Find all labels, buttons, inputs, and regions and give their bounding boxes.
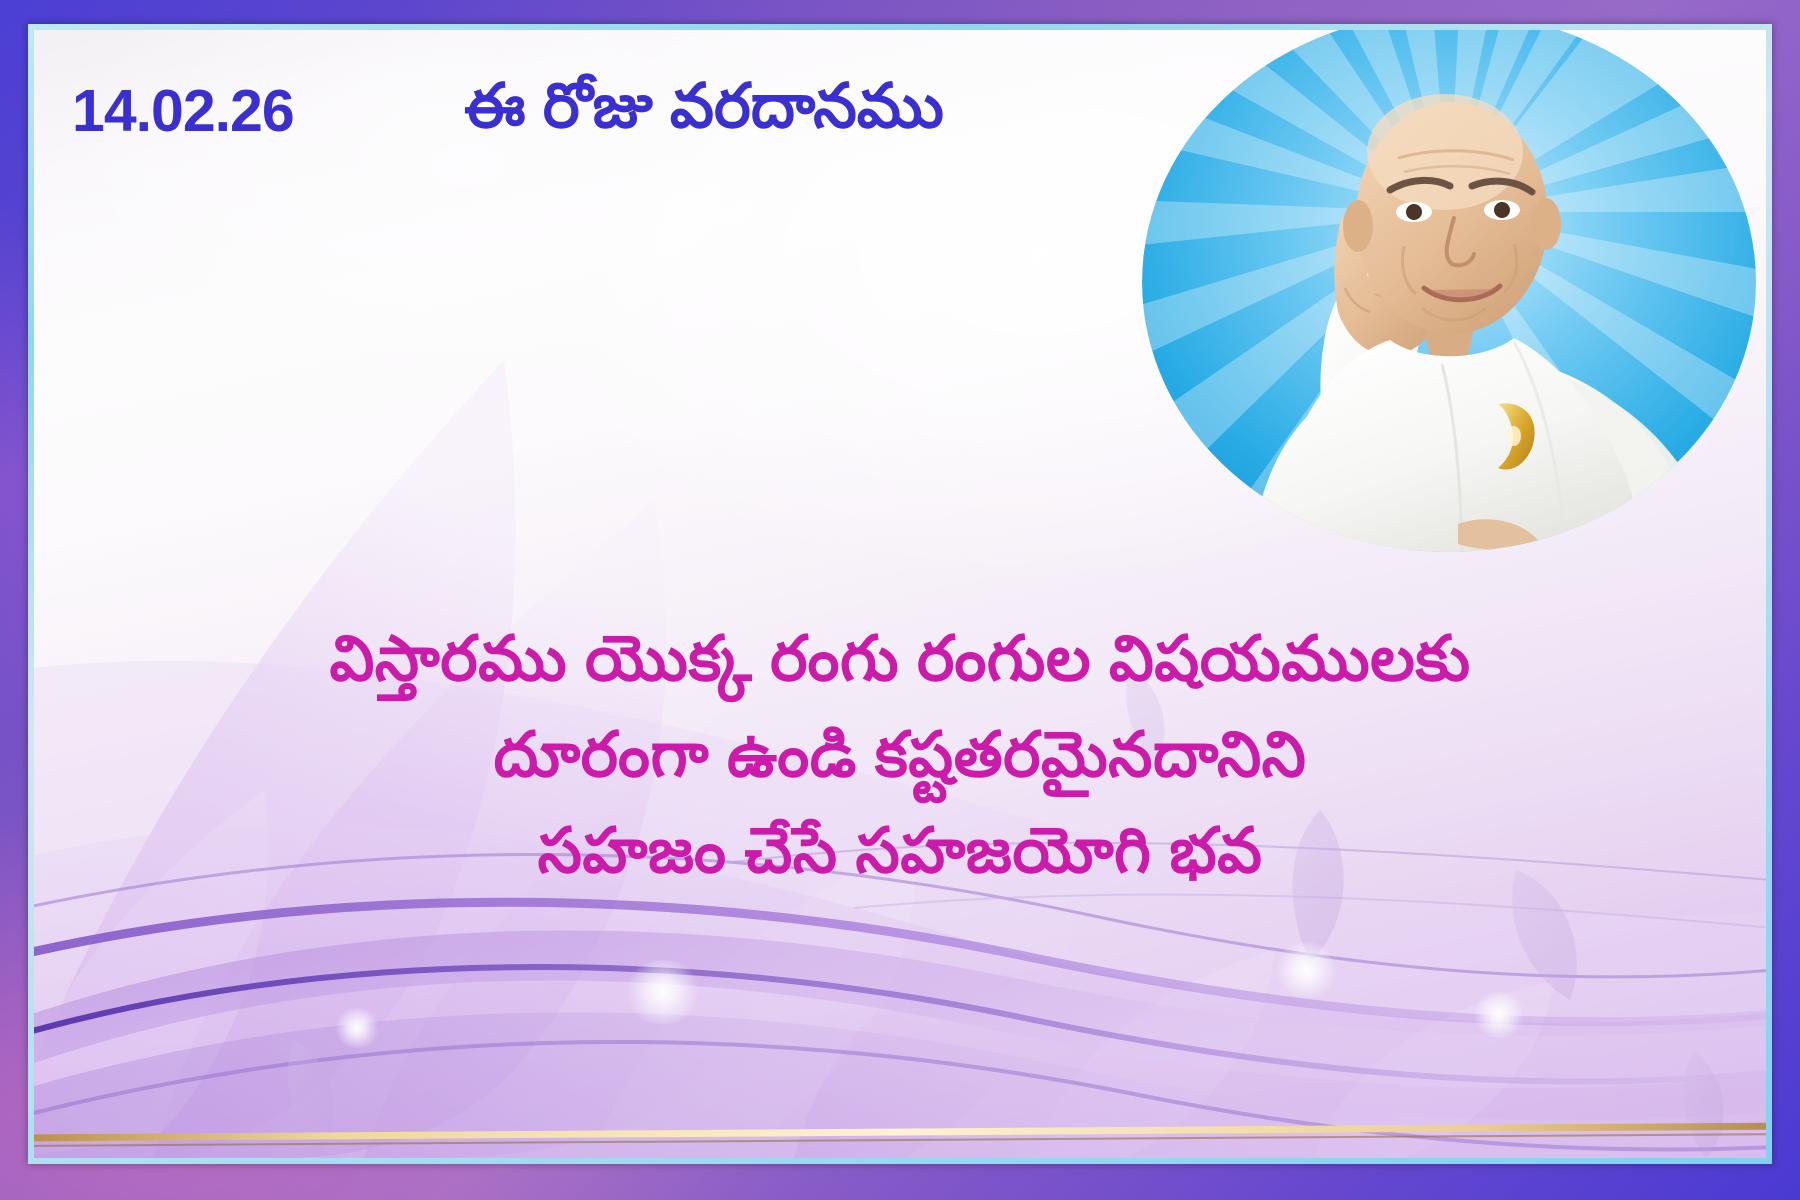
- sparkle-glow: [624, 960, 702, 1024]
- sparkle-glow: [1274, 942, 1338, 998]
- portrait-photo: [1142, 30, 1756, 552]
- sparkle-glow: [334, 1008, 380, 1048]
- portrait-svg: [1142, 30, 1756, 552]
- message-body: విస్తారము యొక్క రంగు రంగుల విషయములకు దూర…: [34, 618, 1766, 893]
- message-line-3: సహజం చేసే సహజయోగి భవ: [86, 810, 1714, 894]
- message-line-2: దూరంగా ఉండి కష్టతరమైనదానిని: [86, 714, 1714, 798]
- greeting-card: 14.02.26 ఈ రోజు వరదానము: [0, 0, 1800, 1200]
- sparkle-glow: [1472, 992, 1526, 1038]
- card-canvas: 14.02.26 ఈ రోజు వరదానము: [34, 30, 1766, 1158]
- message-line-1: విస్తారము యొక్క రంగు రంగుల విషయములకు: [86, 618, 1714, 702]
- date-label: 14.02.26: [72, 82, 294, 141]
- page-title: ఈ రోజు వరదానము: [464, 68, 944, 146]
